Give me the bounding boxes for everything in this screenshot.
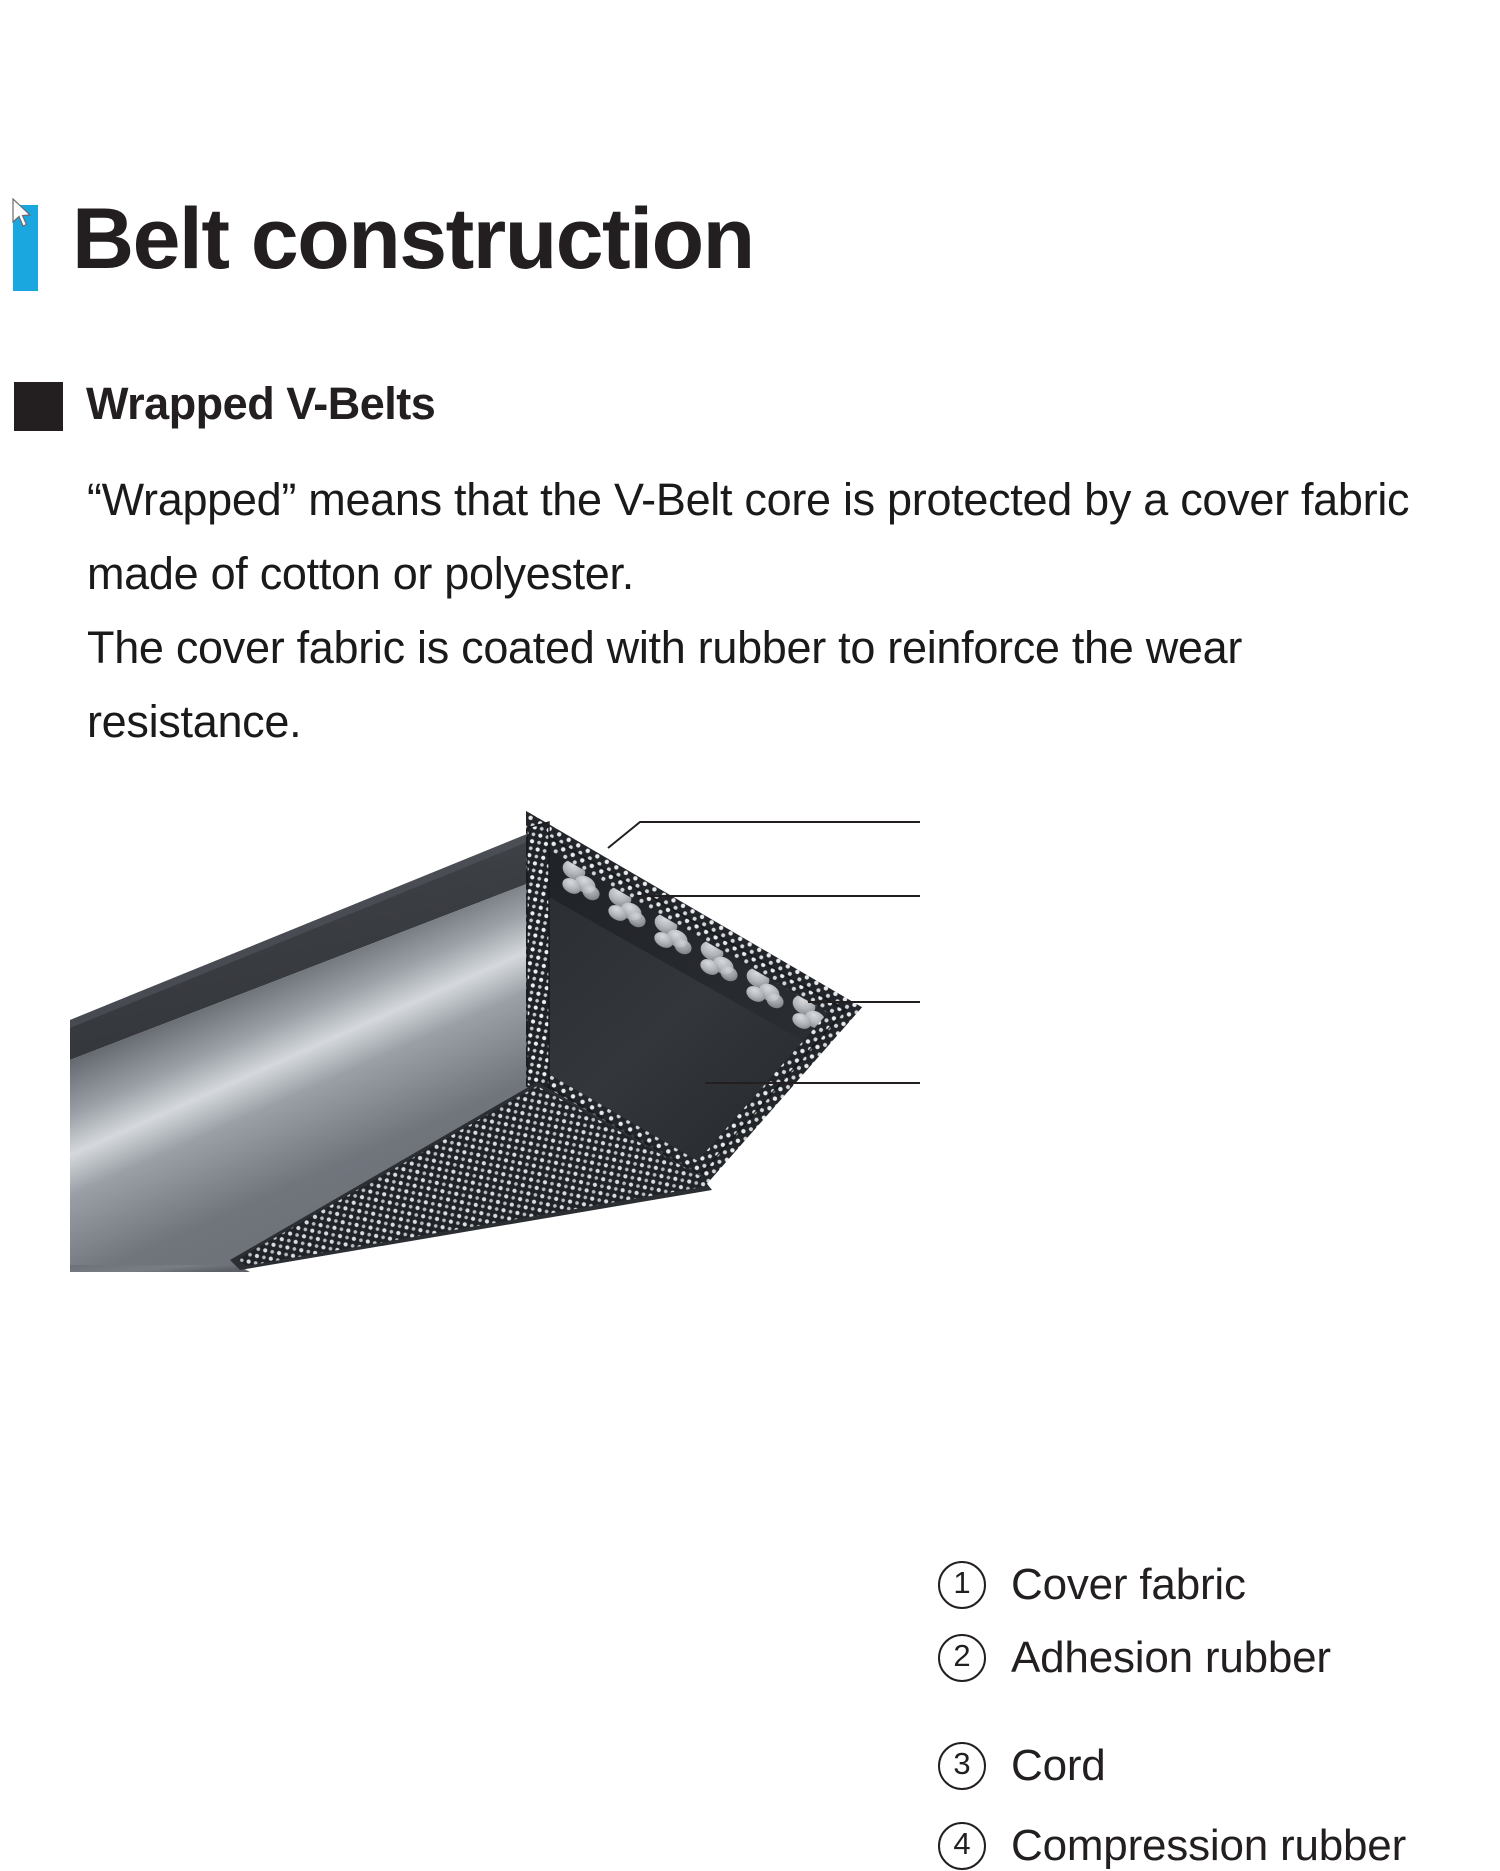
section-heading: Wrapped V-Belts bbox=[86, 378, 435, 430]
legend-label-compression-rubber: Compression rubber bbox=[1011, 1821, 1406, 1871]
body-paragraph-2: The cover fabric is coated with rubber t… bbox=[87, 611, 1457, 759]
legend-number-3: 3 bbox=[938, 1742, 986, 1790]
belt-bottom-edge bbox=[70, 1265, 250, 1272]
legend-number-4: 4 bbox=[938, 1822, 986, 1870]
legend-item-compression-rubber: 4 Compression rubber bbox=[938, 1821, 1406, 1871]
legend-item-cover-fabric: 1 Cover fabric bbox=[938, 1560, 1246, 1610]
legend-item-cord: 3 Cord bbox=[938, 1741, 1106, 1791]
square-bullet-icon bbox=[14, 382, 63, 431]
v-belt-cutaway-illustration bbox=[40, 760, 920, 1300]
legend-label-cover-fabric: Cover fabric bbox=[1011, 1560, 1246, 1610]
body-paragraph-1: “Wrapped” means that the V-Belt core is … bbox=[87, 463, 1457, 611]
legend-label-cord: Cord bbox=[1011, 1741, 1106, 1791]
belt-wrapped-edge bbox=[527, 822, 549, 1088]
legend-label-adhesion-rubber: Adhesion rubber bbox=[1011, 1633, 1331, 1683]
legend-number-2: 2 bbox=[938, 1634, 986, 1682]
belt-construction-diagram: 1 Cover fabric 2 Adhesion rubber 3 Cord … bbox=[0, 760, 1500, 1320]
page-title: Belt construction bbox=[72, 196, 754, 282]
section-body-text: “Wrapped” means that the V-Belt core is … bbox=[87, 463, 1457, 759]
legend-number-1: 1 bbox=[938, 1561, 986, 1609]
legend-item-adhesion-rubber: 2 Adhesion rubber bbox=[938, 1633, 1331, 1683]
mouse-pointer-icon bbox=[12, 198, 34, 230]
